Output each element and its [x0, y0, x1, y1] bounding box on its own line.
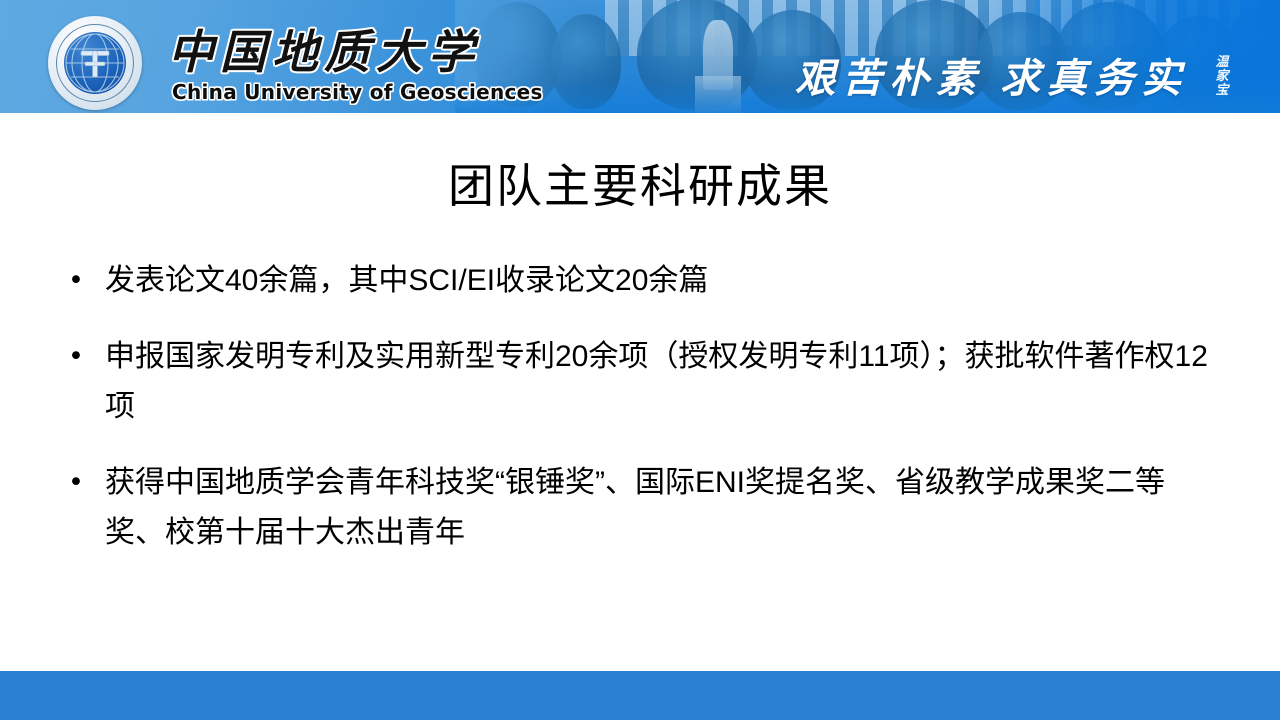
- header-banner: 中国地质大学 China University of Geosciences 艰…: [0, 0, 1280, 113]
- list-item: • 获得中国地质学会青年科技奖“银锤奖”、国际ENI奖提名奖、省级教学成果奖二等…: [60, 458, 1220, 558]
- list-item-text: 发表论文40余篇，其中SCI/EI收录论文20余篇: [105, 256, 1220, 306]
- list-item: • 发表论文40余篇，其中SCI/EI收录论文20余篇: [60, 256, 1220, 306]
- university-name-en: China University of Geosciences: [172, 80, 543, 104]
- bullet-point-icon: •: [60, 256, 105, 306]
- page-title: 团队主要科研成果: [0, 150, 1280, 216]
- list-item: • 申报国家发明专利及实用新型专利20余项（授权发明专利11项）；获批软件著作权…: [60, 332, 1220, 432]
- motto-signature: 温家宝: [1211, 55, 1233, 97]
- university-emblem-icon: [48, 16, 142, 110]
- bullet-point-icon: •: [60, 458, 105, 508]
- university-motto: 艰苦朴素 求真务实: [795, 46, 1188, 104]
- list-item-text: 获得中国地质学会青年科技奖“银锤奖”、国际ENI奖提名奖、省级教学成果奖二等奖、…: [105, 458, 1220, 558]
- emblem-globe-icon: [64, 32, 126, 94]
- bullet-list: • 发表论文40余篇，其中SCI/EI收录论文20余篇 • 申报国家发明专利及实…: [60, 256, 1220, 558]
- list-item-text: 申报国家发明专利及实用新型专利20余项（授权发明专利11项）；获批软件著作权12…: [105, 332, 1220, 432]
- bullet-point-icon: •: [60, 332, 105, 382]
- footer-bar: [0, 671, 1280, 720]
- university-name-cn: 中国地质大学: [168, 16, 480, 82]
- presentation-slide: 中国地质大学 China University of Geosciences 艰…: [0, 0, 1280, 720]
